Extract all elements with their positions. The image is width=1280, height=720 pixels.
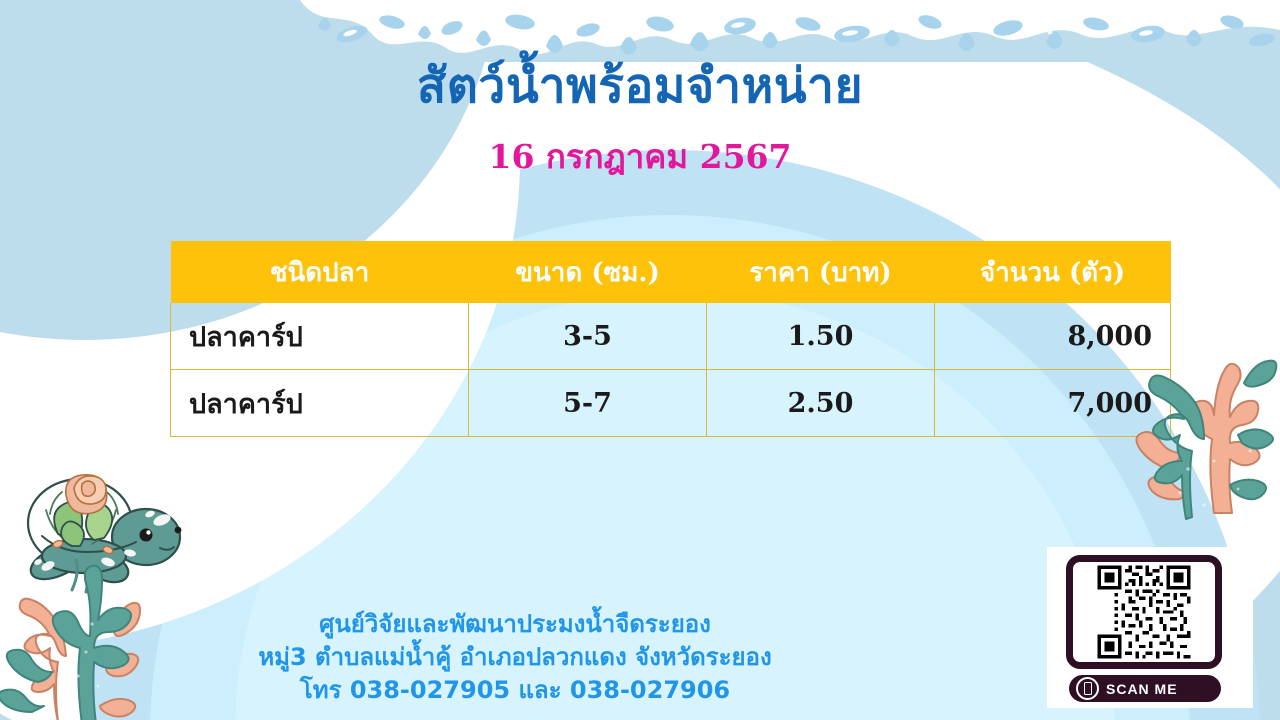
cell-fish-type: ปลาคาร์ป	[171, 303, 469, 370]
column-header-fish-type: ชนิดปลา	[171, 241, 469, 303]
cell-size: 5-7	[469, 370, 707, 437]
table-body: ปลาคาร์ป 3-5 1.50 8,000 ปลาคาร์ป 5-7 2.5…	[171, 303, 1171, 437]
table-row: ปลาคาร์ป 5-7 2.50 7,000	[171, 370, 1171, 437]
qr-code-icon	[1073, 562, 1215, 662]
cell-size: 3-5	[469, 303, 707, 370]
table-header: ชนิดปลา ขนาด (ซม.) ราคา (บาท) จำนวน (ตัว…	[171, 241, 1171, 303]
poster-canvas: สัตว์น้ำพร้อมจำหน่าย 16 กรกฎาคม 2567 ชนิ…	[0, 0, 1280, 720]
fish-price-table: ชนิดปลา ขนาด (ซม.) ราคา (บาท) จำนวน (ตัว…	[170, 241, 1171, 437]
coral-icon	[1118, 255, 1280, 530]
mobile-phone-icon	[1076, 677, 1099, 700]
table-row: ปลาคาร์ป 3-5 1.50 8,000	[171, 303, 1171, 370]
column-header-size: ขนาด (ซม.)	[469, 241, 707, 303]
cell-price: 2.50	[707, 370, 935, 437]
scan-me-badge[interactable]: SCAN ME	[1069, 675, 1221, 702]
table-header-row: ชนิดปลา ขนาด (ซม.) ราคา (บาท) จำนวน (ตัว…	[171, 241, 1171, 303]
qr-code-card[interactable]: SCAN ME	[1047, 547, 1253, 708]
column-header-price: ราคา (บาท)	[707, 241, 935, 303]
cell-price: 1.50	[707, 303, 935, 370]
scan-me-label: SCAN ME	[1106, 681, 1178, 697]
cell-fish-type: ปลาคาร์ป	[171, 370, 469, 437]
qr-code-image[interactable]	[1066, 555, 1222, 669]
poster-date: 16 กรกฎาคม 2567	[0, 130, 1280, 183]
page-title: สัตว์น้ำพร้อมจำหน่าย	[0, 60, 1280, 113]
coral-icon	[0, 556, 172, 720]
